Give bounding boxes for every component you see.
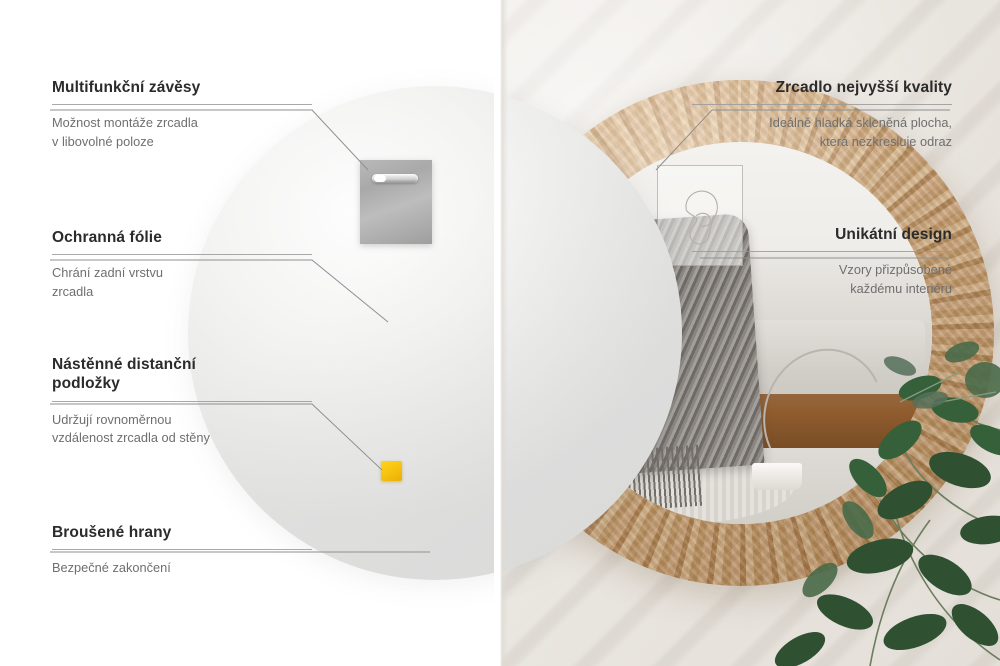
callout-text-line1: Vzory přizpůsobené <box>839 262 952 277</box>
callout-brousene-hrany: Broušené hrany Bezpečné zakončení <box>52 523 312 578</box>
callout-nastenne-distancni-podlozky: Nástěnné distanční podložky Udržují rovn… <box>52 355 312 448</box>
panel-split-edge <box>494 0 508 666</box>
callout-title: Unikátní design <box>692 225 952 244</box>
callout-text-line1: Chrání zadní vrstvu <box>52 265 163 280</box>
callout-rule <box>692 104 952 105</box>
callout-text-line1: Ideálně hladká skleněná plocha, <box>769 115 952 130</box>
callout-title: Ochranná fólie <box>52 228 312 247</box>
callout-rule <box>52 549 312 550</box>
callout-text-line1: Možnost montáže zrcadla <box>52 115 198 130</box>
callout-text: Bezpečné zakončení <box>52 559 312 578</box>
callout-title: Zrcadlo nejvyšší kvality <box>692 78 952 97</box>
callout-rule <box>52 254 312 255</box>
callout-title-line2: podložky <box>52 375 120 392</box>
callout-unikatni-design: Unikátní design Vzory přizpůsobené každé… <box>692 225 952 298</box>
callout-text: Ideálně hladká skleněná plocha, která ne… <box>692 114 952 151</box>
callout-text: Vzory přizpůsobené každému interiéru <box>692 261 952 298</box>
callout-rule <box>692 251 952 252</box>
callout-title: Nástěnné distanční podložky <box>52 355 312 394</box>
mirror-back-shading <box>188 86 682 580</box>
callout-title-line1: Nástěnné distanční <box>52 356 196 373</box>
callout-text-line2: vzdálenost zrcadla od stěny <box>52 430 210 445</box>
callout-rule <box>52 401 312 402</box>
callout-text-line2: zrcadla <box>52 284 93 299</box>
callout-zrcadlo-nejvyssi-kvality: Zrcadlo nejvyšší kvality Ideálně hladká … <box>692 78 952 151</box>
callout-text: Chrání zadní vrstvu zrcadla <box>52 264 312 301</box>
callout-text-line2: každému interiéru <box>850 281 952 296</box>
callout-text: Udržují rovnoměrnou vzdálenost zrcadla o… <box>52 411 312 448</box>
callout-ochranna-folie: Ochranná fólie Chrání zadní vrstvu zrcad… <box>52 228 312 301</box>
infographic-stage: Multifunkční závěsy Možnost montáže zrca… <box>0 0 1000 666</box>
yellow-spacer-pad <box>381 461 402 481</box>
callout-text-line1: Udržují rovnoměrnou <box>52 412 172 427</box>
callout-text: Možnost montáže zrcadla v libovolné polo… <box>52 114 312 151</box>
callout-text-line1: Bezpečné zakončení <box>52 560 171 575</box>
callout-multifunkcni-zavesy: Multifunkční závěsy Možnost montáže zrca… <box>52 78 312 151</box>
callout-title: Multifunkční závěsy <box>52 78 312 97</box>
callout-text-line2: která nezkresluje odraz <box>820 134 952 149</box>
callout-rule <box>52 104 312 105</box>
bracket-keyhole-slot <box>372 174 418 183</box>
reflected-floor-lamp-shade <box>752 463 802 490</box>
callout-title: Broušené hrany <box>52 523 312 542</box>
callout-text-line2: v libovolné poloze <box>52 134 154 149</box>
hanging-bracket <box>360 160 432 244</box>
